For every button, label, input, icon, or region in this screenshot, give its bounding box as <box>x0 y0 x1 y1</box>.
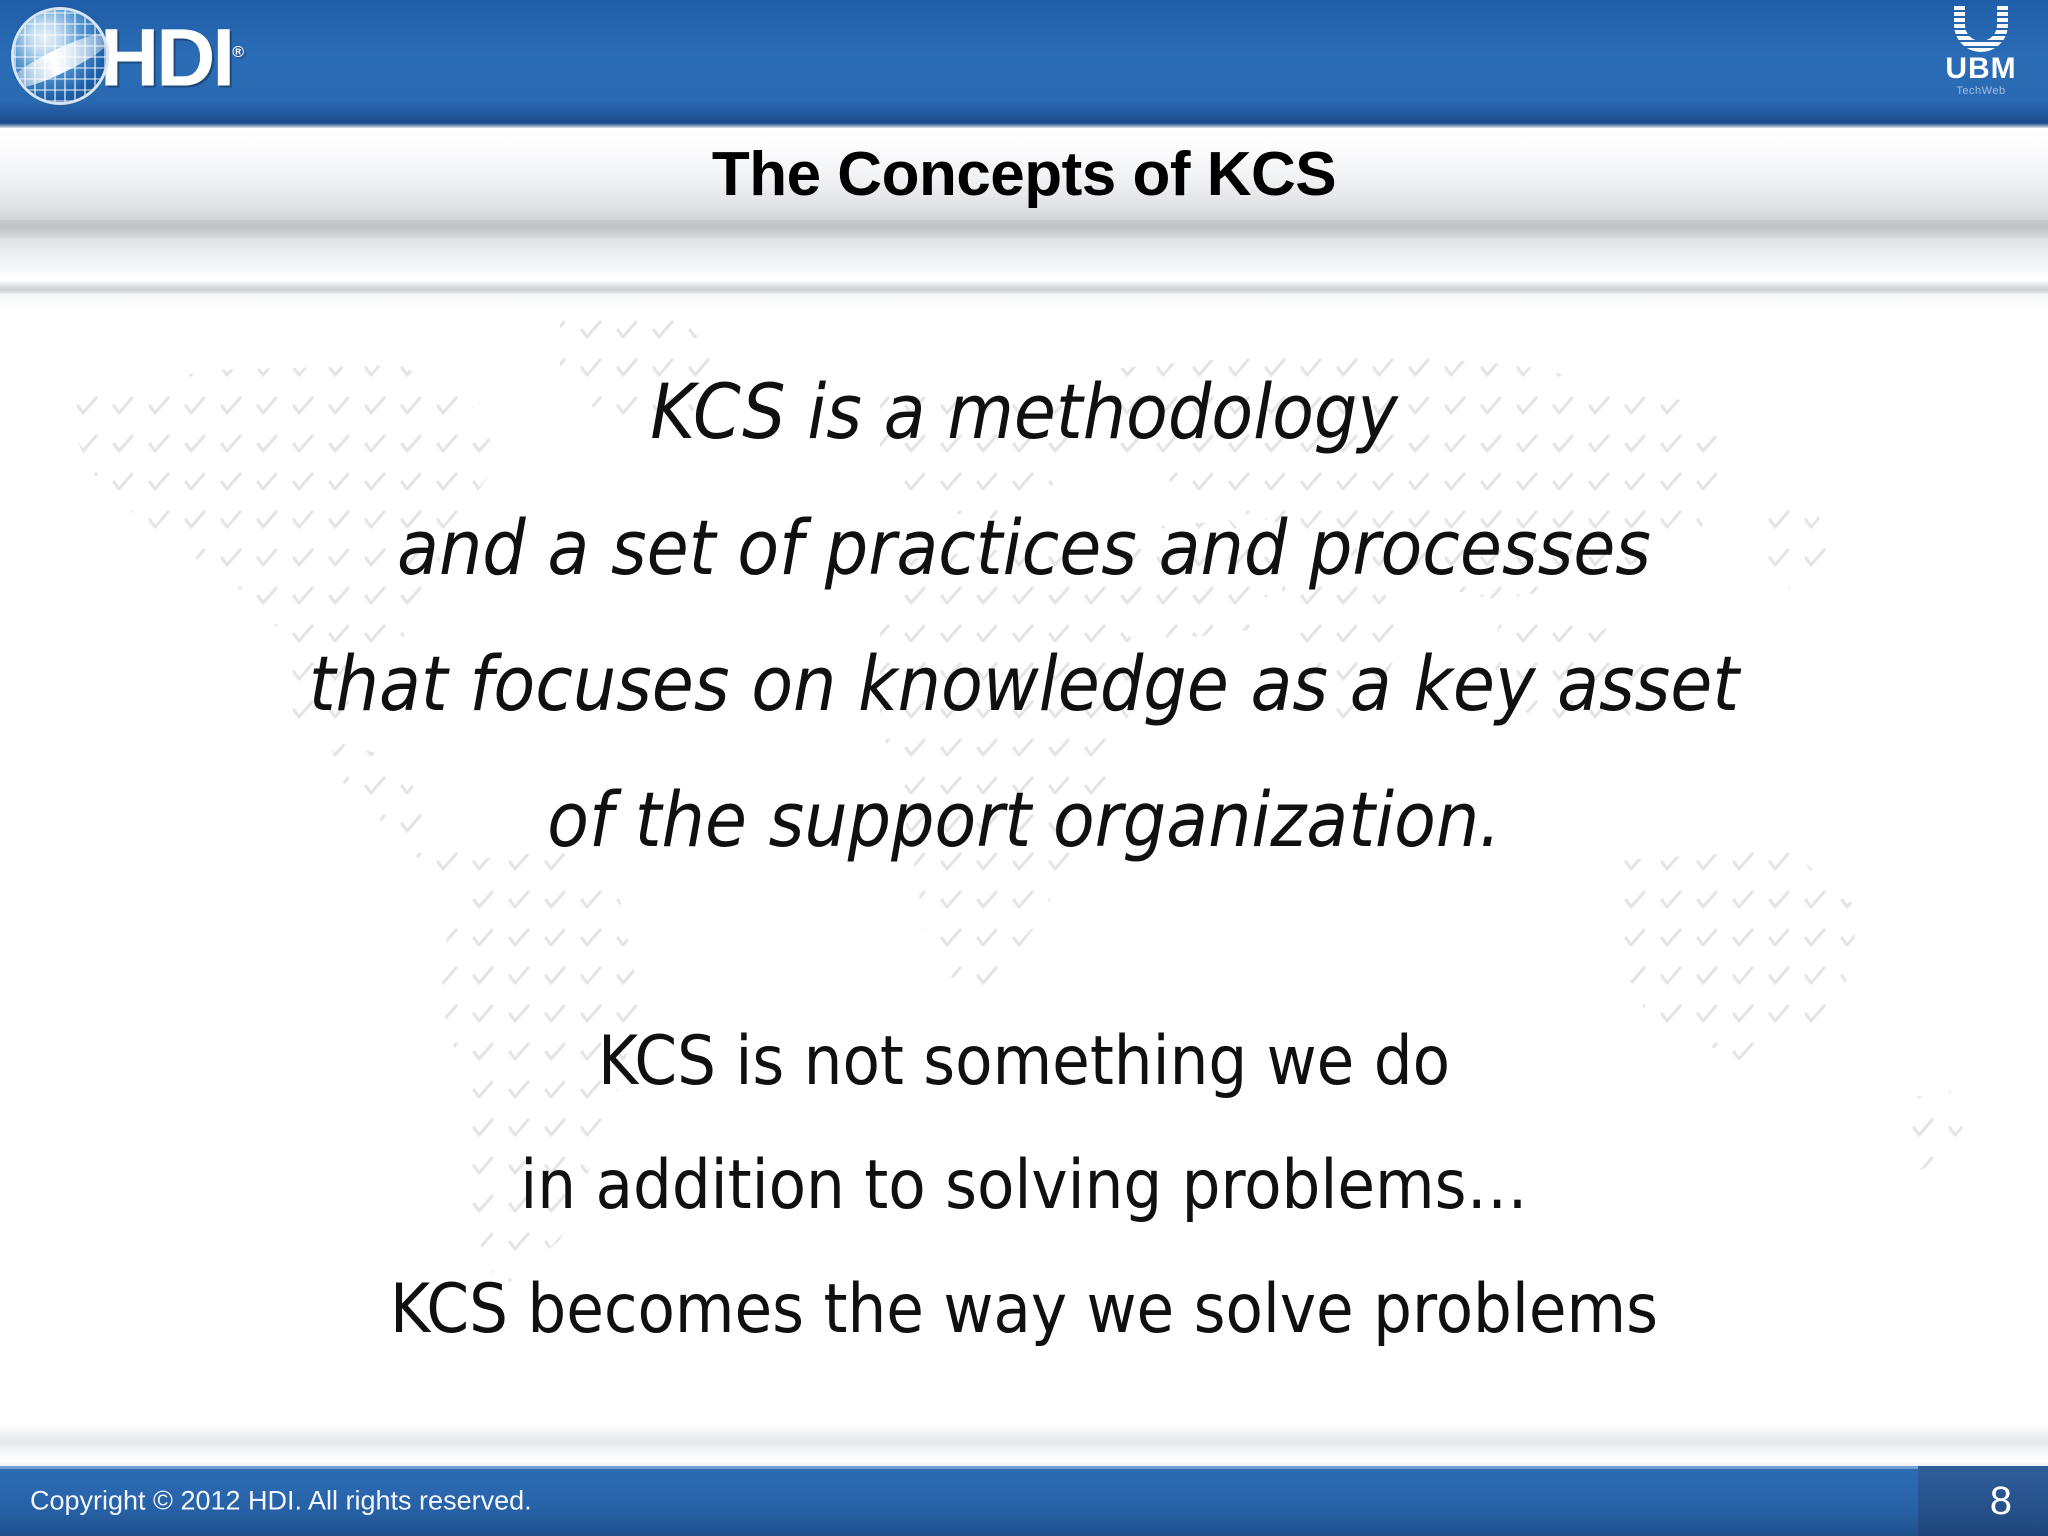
emphasis-text-block: KCS is a methodology and a set of practi… <box>0 344 2048 888</box>
footer-right-accent <box>1918 1466 2048 1536</box>
divider-ridge-upper <box>0 238 2048 280</box>
ubm-wordmark: UBM <box>1926 54 2036 84</box>
divider-ridge-lower <box>0 280 2048 294</box>
emphasis-line: of the support organization. <box>0 752 2048 888</box>
globe-icon <box>14 10 106 102</box>
page-number: 8 <box>1990 1481 2012 1521</box>
copyright-text: Copyright © 2012 HDI. All rights reserve… <box>30 1486 532 1517</box>
hdi-logo[interactable]: HDI® <box>14 4 244 108</box>
plain-line: KCS becomes the way we solve problems <box>0 1248 2048 1372</box>
footer-divider-ridge <box>0 1422 2048 1466</box>
plain-line: in addition to solving problems… <box>0 1124 2048 1248</box>
emphasis-line: and a set of practices and processes <box>0 480 2048 616</box>
slide-body: KCS is a methodology and a set of practi… <box>0 320 2048 1420</box>
hdi-wordmark: HDI® <box>100 12 244 99</box>
page-title: The Concepts of KCS <box>0 128 2048 220</box>
emphasis-line: KCS is a methodology <box>0 344 2048 480</box>
plain-line: KCS is not something we do <box>0 1000 2048 1124</box>
ubm-u-globe-icon <box>1954 6 2008 52</box>
ubm-logo[interactable]: UBM TechWeb <box>1926 4 2036 97</box>
emphasis-line: that focuses on knowledge as a key asset <box>0 616 2048 752</box>
footer-band: Copyright © 2012 HDI. All rights reserve… <box>0 1466 2048 1536</box>
hdi-trademark: ® <box>232 44 244 61</box>
divider-ridge-top <box>0 220 2048 238</box>
plain-text-block: KCS is not something we do in addition t… <box>0 1000 2048 1372</box>
header-band <box>0 0 2048 128</box>
divider-ridge-bottom <box>0 294 2048 310</box>
hdi-wordmark-text: HDI <box>100 13 232 104</box>
slide-root: HDI® UBM TechWeb The Concepts of KCS KCS… <box>0 0 2048 1536</box>
ubm-subtitle: TechWeb <box>1926 85 2036 97</box>
